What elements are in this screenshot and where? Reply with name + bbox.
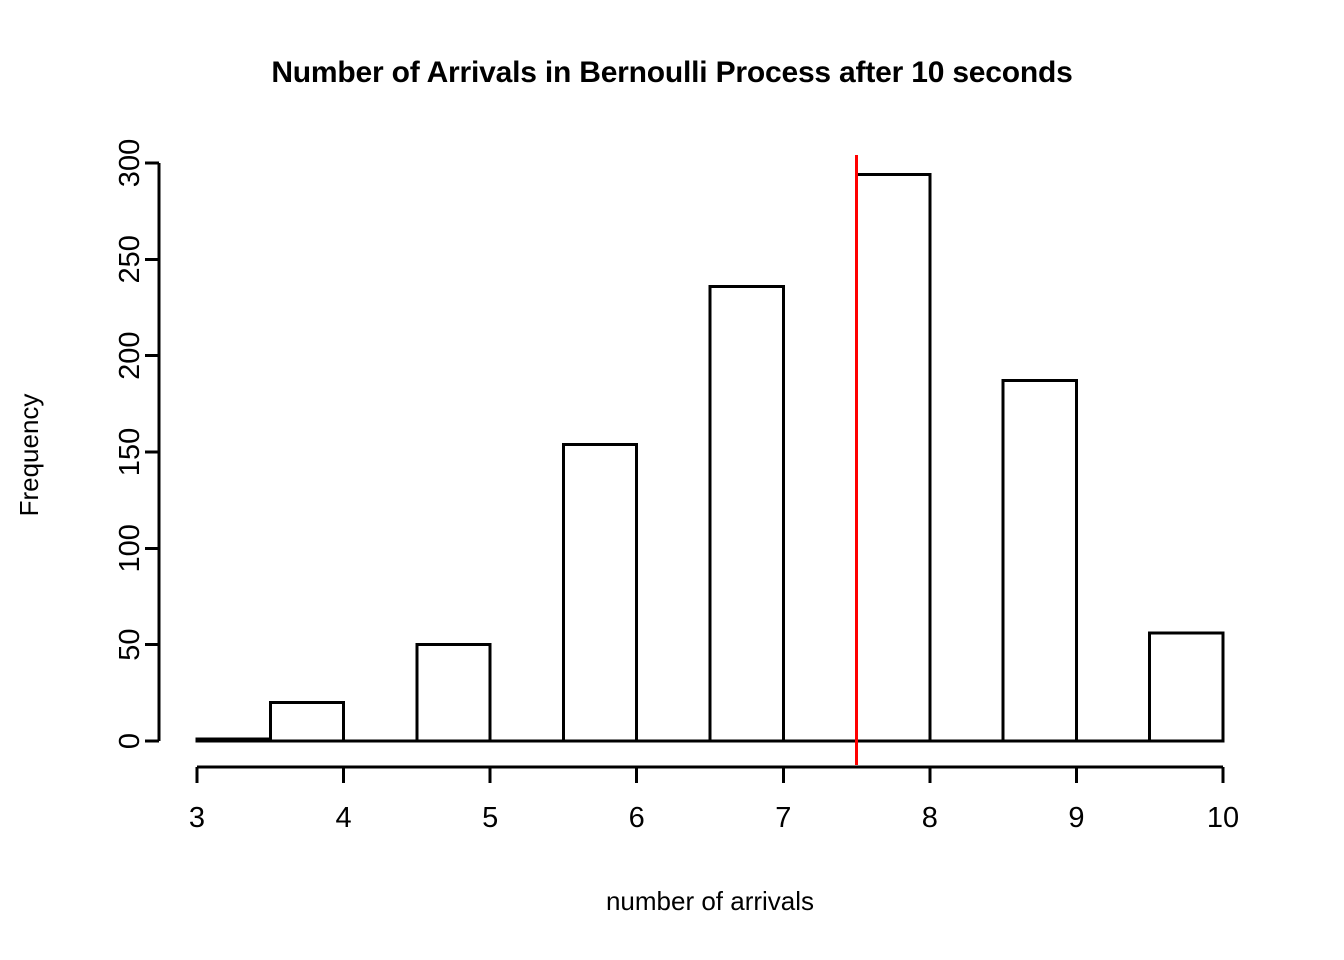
- x-axis-tick-label: 3: [189, 802, 205, 834]
- x-axis-tick-label: 8: [922, 802, 938, 834]
- y-axis-tick-label: 300: [114, 139, 146, 187]
- histogram-bar: [857, 175, 930, 741]
- y-axis-tick-label: 150: [114, 428, 146, 476]
- histogram-bar: [1150, 633, 1223, 741]
- y-axis-tick-label: 0: [114, 733, 146, 749]
- x-axis-tick-label: 9: [1068, 802, 1084, 834]
- chart-canvas: 050100150200250300 345678910 Frequency n…: [0, 0, 1344, 960]
- y-axis-title: Frequency: [14, 394, 44, 517]
- histogram-plot-panel: Number of Arrivals in Bernoulli Process …: [0, 0, 1344, 960]
- histogram-bars: [197, 175, 1223, 741]
- x-axis-tick-label: 4: [336, 802, 352, 834]
- x-axis-tick-label: 7: [775, 802, 791, 834]
- x-axis: 345678910: [189, 767, 1239, 834]
- histogram-bar: [1003, 381, 1076, 741]
- x-axis-title: number of arrivals: [606, 886, 814, 916]
- histogram-bar: [417, 645, 490, 741]
- histogram-bar: [710, 286, 783, 741]
- y-axis-tick-label: 100: [114, 524, 146, 572]
- x-axis-tick-label: 5: [482, 802, 498, 834]
- histogram-bar: [270, 702, 343, 741]
- y-axis-tick-label: 250: [114, 235, 146, 283]
- y-axis-tick-label: 50: [114, 629, 146, 661]
- y-axis-tick-label: 200: [114, 331, 146, 379]
- y-axis: 050100150200250300: [114, 139, 159, 749]
- x-axis-tick-label: 6: [629, 802, 645, 834]
- x-axis-tick-label: 10: [1207, 802, 1239, 834]
- histogram-bar: [563, 444, 636, 741]
